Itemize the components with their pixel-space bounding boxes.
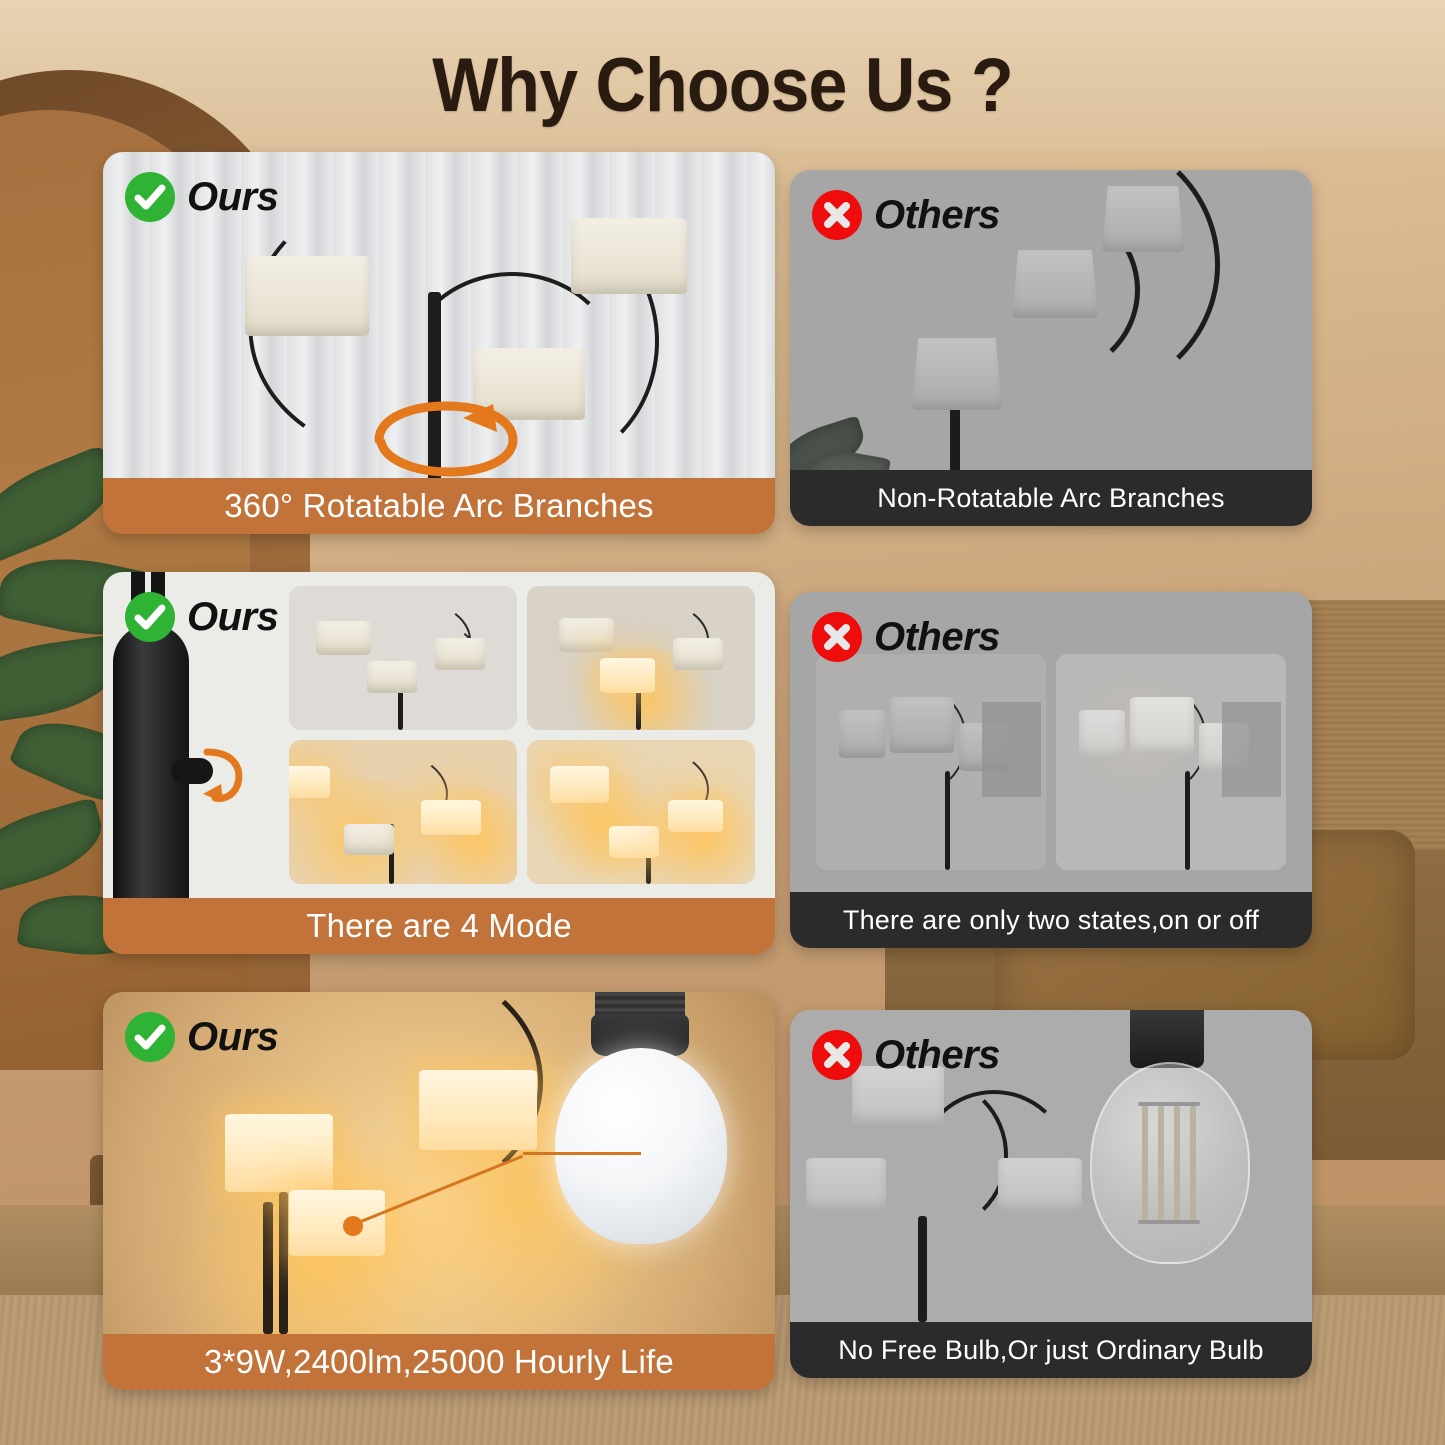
badge-ours-rotatable: Ours bbox=[125, 172, 278, 222]
badge-others-bulb: Others bbox=[812, 1030, 1000, 1080]
page-title: Why Choose Us ? bbox=[58, 42, 1387, 129]
badge-others-rotatable: Others bbox=[812, 190, 1000, 240]
state-thumbnail-off bbox=[816, 654, 1046, 870]
badge-label-ours: Ours bbox=[187, 1015, 278, 1060]
bulb-callout-line-horizontal bbox=[523, 1152, 641, 1155]
comparison-card-ours-rotatable-branches: 360° Rotatable Arc Branches Ours bbox=[103, 152, 775, 534]
comparison-card-others-included-bulbs: No Free Bulb,Or just Ordinary Bulb Other… bbox=[790, 1010, 1312, 1378]
led-bulb bbox=[555, 1048, 727, 1244]
mode-thumbnail-all-off bbox=[289, 586, 517, 730]
mode-thumbnail-one-on bbox=[527, 586, 755, 730]
caption-others-modes: There are only two states,on or off bbox=[790, 892, 1312, 948]
edison-bulb-base bbox=[1130, 1010, 1204, 1068]
cross-circle-icon bbox=[812, 1030, 862, 1080]
badge-label-others: Others bbox=[874, 615, 1000, 660]
caption-others-rotatable: Non-Rotatable Arc Branches bbox=[790, 470, 1312, 526]
edison-bulb bbox=[1090, 1062, 1250, 1264]
comparison-grid: 360° Rotatable Arc Branches Ours Non-Rot… bbox=[0, 0, 1445, 1445]
state-thumbnail-grid bbox=[816, 654, 1286, 870]
badge-label-others: Others bbox=[874, 193, 1000, 238]
rotation-arrow-icon bbox=[361, 398, 531, 478]
check-circle-icon bbox=[125, 172, 175, 222]
caption-ours-bulb: 3*9W,2400lm,25000 Hourly Life bbox=[103, 1334, 775, 1390]
comparison-card-others-lighting-modes: There are only two states,on or off Othe… bbox=[790, 592, 1312, 948]
comparison-card-ours-lighting-modes: There are 4 Mode Ours bbox=[103, 572, 775, 954]
caption-ours-rotatable: 360° Rotatable Arc Branches bbox=[103, 478, 775, 534]
switch-rotation-arrow-icon bbox=[193, 740, 253, 810]
check-circle-icon bbox=[125, 592, 175, 642]
caption-ours-modes: There are 4 Mode bbox=[103, 898, 775, 954]
mode-thumbnail-two-on bbox=[289, 740, 517, 884]
comparison-card-ours-included-bulbs: 3*9W,2400lm,25000 Hourly Life Ours bbox=[103, 992, 775, 1390]
cross-circle-icon bbox=[812, 612, 862, 662]
badge-others-modes: Others bbox=[812, 612, 1000, 662]
badge-ours-modes: Ours bbox=[125, 592, 278, 642]
caption-others-bulb: No Free Bulb,Or just Ordinary Bulb bbox=[790, 1322, 1312, 1378]
mode-thumbnail-three-on bbox=[527, 740, 755, 884]
cross-circle-icon bbox=[812, 190, 862, 240]
badge-label-others: Others bbox=[874, 1033, 1000, 1078]
mode-thumbnail-grid bbox=[289, 586, 755, 884]
check-circle-icon bbox=[125, 1012, 175, 1062]
badge-label-ours: Ours bbox=[187, 595, 278, 640]
bulb-callout-dot bbox=[343, 1216, 363, 1236]
badge-ours-bulb: Ours bbox=[125, 1012, 278, 1062]
comparison-card-others-rotatable-branches: Non-Rotatable Arc Branches Others bbox=[790, 170, 1312, 526]
state-thumbnail-on bbox=[1056, 654, 1286, 870]
badge-label-ours: Ours bbox=[187, 175, 278, 220]
